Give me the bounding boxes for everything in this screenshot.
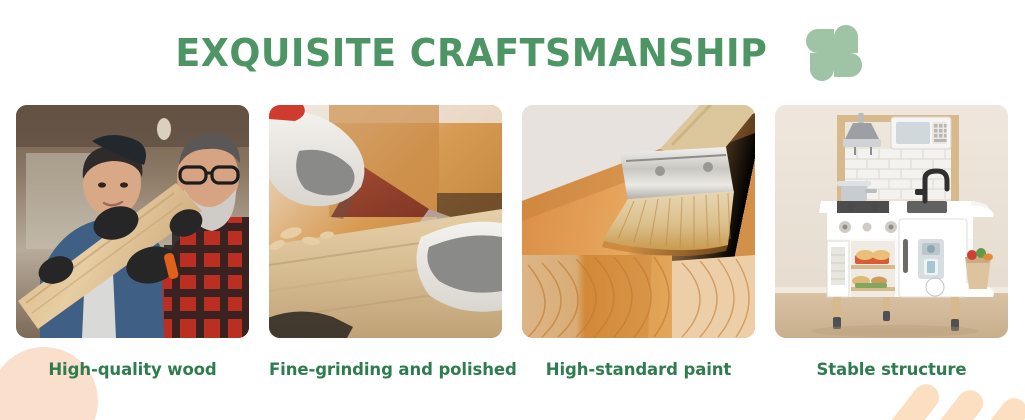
feature-card-list: High-quality wood bbox=[16, 105, 1009, 379]
pinwheel-petal-west bbox=[806, 29, 834, 53]
pinwheel-petal-south bbox=[810, 53, 834, 81]
pinwheel-petal-east bbox=[834, 53, 862, 77]
photo-stable-structure bbox=[775, 105, 1008, 338]
feature-card-1-caption: High-quality wood bbox=[16, 360, 249, 379]
decorative-ray-1 bbox=[860, 379, 945, 420]
feature-card-4[interactable]: Stable structure bbox=[775, 105, 1008, 379]
feature-card-4-caption: Stable structure bbox=[775, 360, 1008, 379]
promo-banner: EXQUISITE CRAFTSMANSHIP bbox=[0, 0, 1025, 420]
feature-card-3-caption: High-standard paint bbox=[522, 360, 755, 379]
pinwheel-icon bbox=[806, 25, 862, 81]
page-title: EXQUISITE CRAFTSMANSHIP bbox=[175, 31, 767, 75]
feature-card-2-caption: Fine-grinding and polished bbox=[269, 360, 502, 379]
feature-card-3[interactable]: High-standard paint bbox=[522, 105, 755, 379]
photo-fine-grinding-polished bbox=[269, 105, 502, 338]
feature-card-2[interactable]: Fine-grinding and polished bbox=[269, 105, 502, 379]
photo-high-standard-paint bbox=[522, 105, 755, 338]
banner-header: EXQUISITE CRAFTSMANSHIP bbox=[0, 22, 1025, 84]
feature-card-1[interactable]: High-quality wood bbox=[16, 105, 249, 379]
photo-high-quality-wood bbox=[16, 105, 249, 338]
pinwheel-petal-north bbox=[834, 25, 858, 53]
